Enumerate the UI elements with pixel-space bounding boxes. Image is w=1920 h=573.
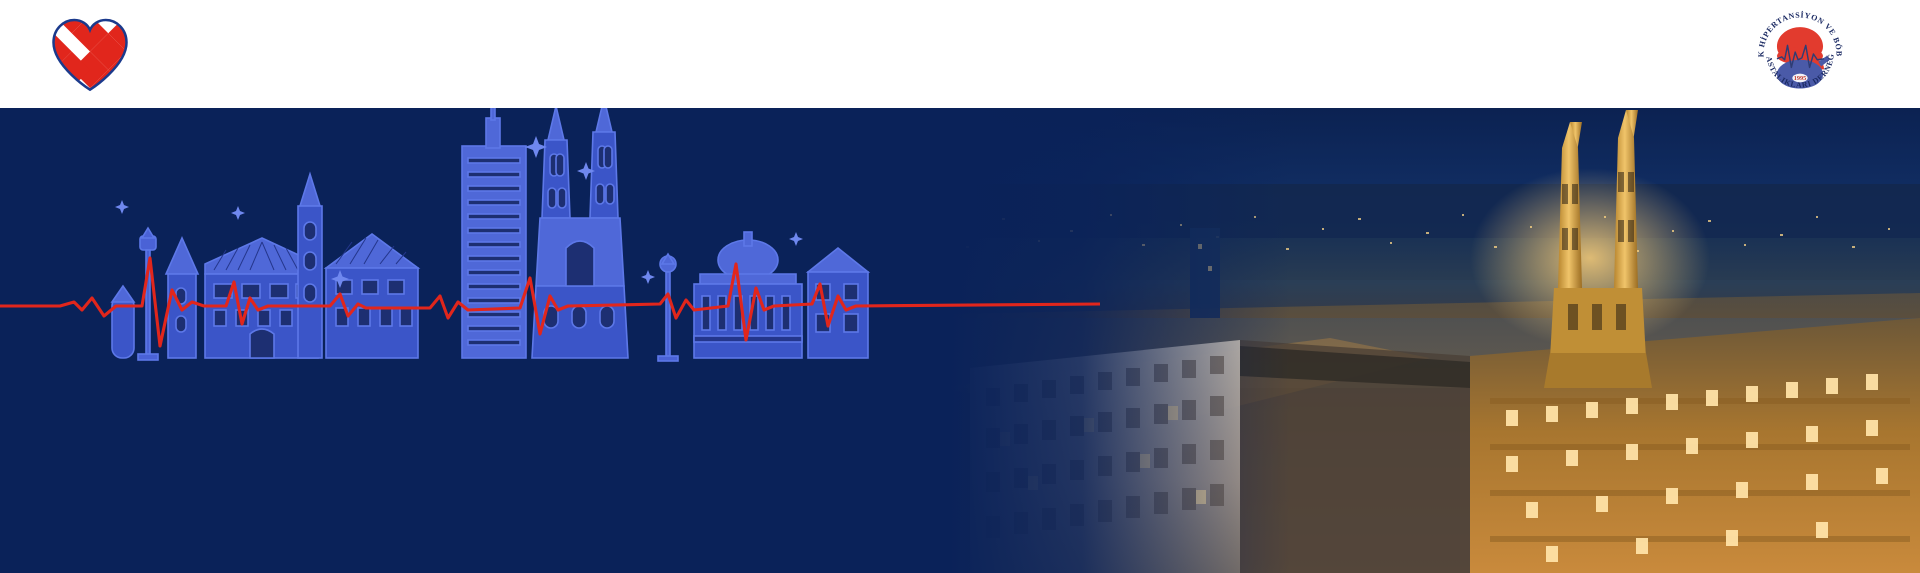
- meta-separator-2: [500, 186, 518, 209]
- logo-bar: 1995 TÜRK HİPERTANSİYON VE BÖBREK HASTAL…: [0, 0, 1920, 108]
- event-meta-line: [0, 186, 1000, 210]
- ecg-heartbeat-line: [0, 238, 1100, 358]
- banner-artwork-stage: [0, 88, 1920, 573]
- turkish-hypertension-society-seal: 1995 TÜRK HİPERTANSİYON VE BÖBREK HASTAL…: [1752, 6, 1848, 102]
- meta-separator-1: [482, 186, 500, 209]
- checkerboard-heart-icon: [48, 15, 132, 93]
- conference-banner: 1995 TÜRK HİPERTANSİYON VE BÖBREK HASTAL…: [0, 0, 1920, 573]
- croatian-cardiac-society-logo: [48, 10, 318, 98]
